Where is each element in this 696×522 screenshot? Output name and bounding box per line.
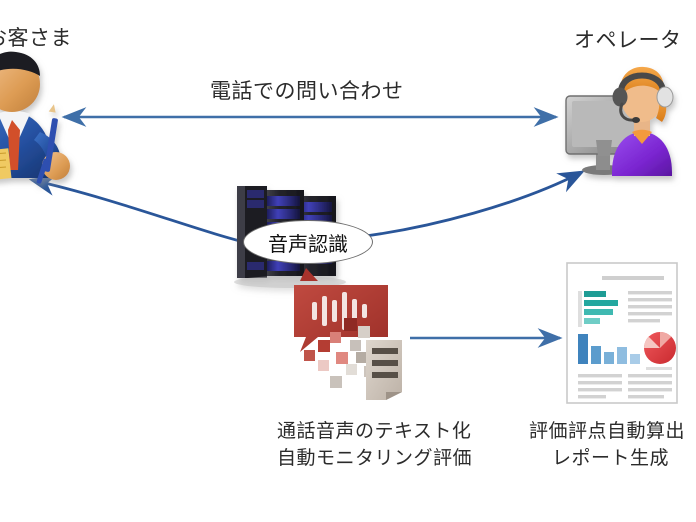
- speech-to-text-icon: [294, 268, 402, 400]
- node-label-transcription-line1: 通話音声のテキスト化: [277, 420, 471, 443]
- node-label-report-line1: 評価評点自動算出: [529, 420, 685, 443]
- node-label-customer: お客さま: [0, 26, 72, 52]
- node-label-speech-recognition-text: 音声認識: [268, 228, 348, 257]
- edge-asr-to-customer: [32, 180, 252, 244]
- node-label-speech-recognition: 音声認識: [243, 220, 373, 264]
- node-label-operator: オペレータ: [574, 28, 682, 54]
- diagram-canvas: お客さま オペレータ 電話での問い合わせ 音声認識 通話音声のテキスト化 自動モ…: [0, 0, 696, 522]
- edge-label-phone-inquiry: 電話での問い合わせ: [210, 79, 404, 105]
- businessman-icon: [0, 52, 70, 185]
- operator-headset-icon: [566, 67, 673, 176]
- node-label-transcription-line2: 自動モニタリング評価: [277, 447, 472, 470]
- report-document-icon: [567, 263, 677, 403]
- edge-asr-to-operator: [358, 172, 582, 237]
- node-label-report-line2: レポート生成: [552, 447, 669, 470]
